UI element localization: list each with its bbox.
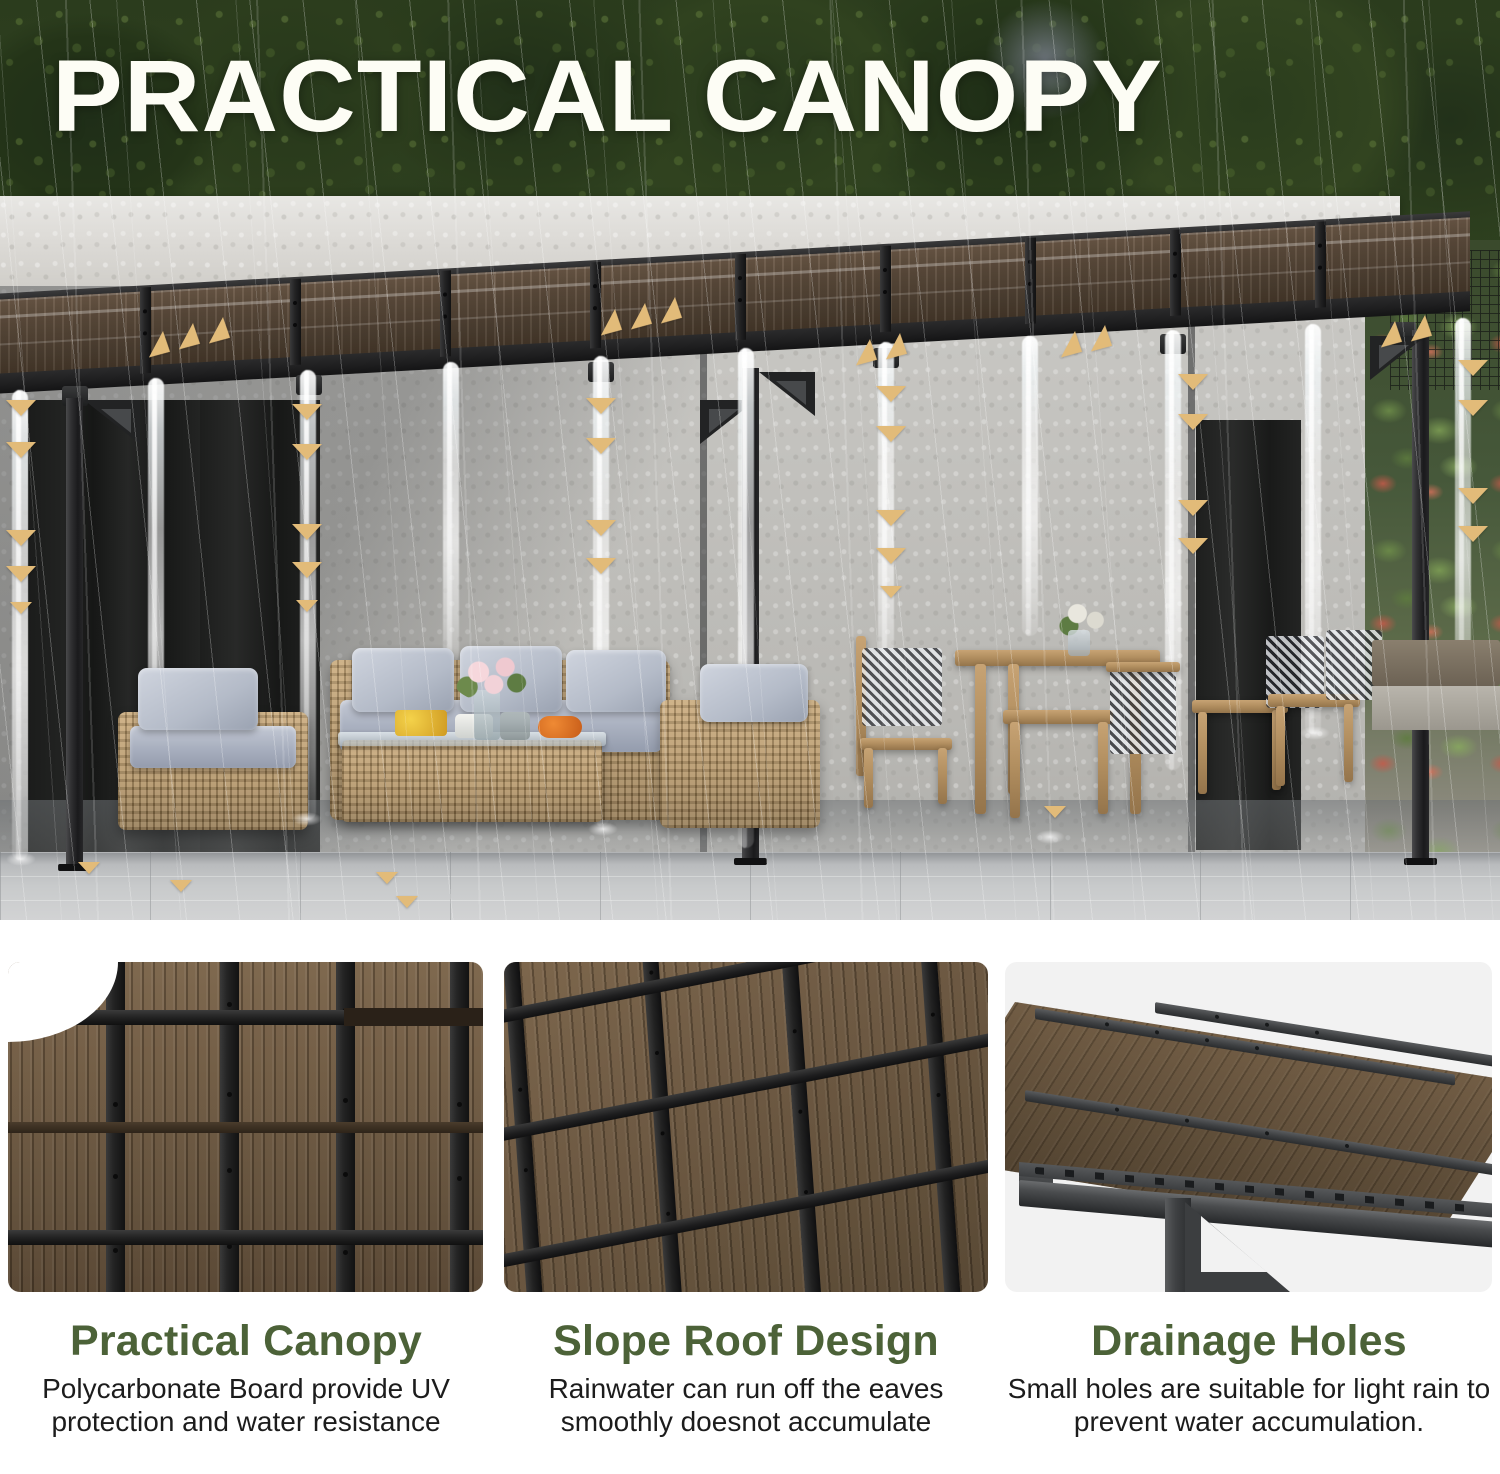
water-splash [6, 852, 36, 866]
page-title: PRACTICAL CANOPY [52, 44, 1163, 148]
planter-base [1372, 686, 1500, 730]
roof-rafter [1315, 221, 1326, 308]
water-splash [1035, 830, 1065, 844]
roof-rafter [140, 287, 151, 374]
flow-arrow-icon [876, 426, 906, 442]
water-splash [588, 822, 618, 836]
armchair-back-pillow [138, 668, 258, 730]
post-base [734, 858, 767, 865]
post-base [1404, 858, 1437, 865]
feature-image-drainage-holes [1005, 962, 1492, 1292]
caption-title: Practical Canopy [0, 1316, 492, 1366]
roof-rafter [590, 262, 601, 349]
fruit-bowl-oranges [538, 716, 582, 738]
feature-image-slope-roof-design [504, 962, 988, 1292]
canopy-post [1412, 330, 1429, 860]
panel-dark-segment [344, 1008, 483, 1026]
flower-bouquet [452, 652, 528, 702]
flow-arrow-icon [78, 862, 100, 874]
product-feature-image: PRACTICAL CANOPY [0, 0, 1500, 1474]
flow-arrow-icon [1044, 806, 1066, 818]
wicker-coffee-table [342, 740, 602, 822]
pitcher [500, 712, 530, 740]
roof-rafter [880, 246, 891, 333]
roof-rafter [440, 270, 451, 357]
flow-arrow-icon [6, 400, 36, 416]
dining-chair-leg [864, 748, 873, 808]
caption-description: Rainwater can run off the eaves smoothly… [496, 1372, 996, 1438]
dining-chair-leg [1276, 706, 1285, 786]
feature-captions: Practical Canopy Polycarbonate Board pro… [0, 1316, 1500, 1474]
caption-drainage-holes: Drainage Holes Small holes are suitable … [998, 1316, 1500, 1438]
flow-arrow-icon [396, 896, 418, 908]
flow-arrow-icon [376, 872, 398, 884]
dining-table-leg [975, 664, 986, 814]
caption-practical-canopy: Practical Canopy Polycarbonate Board pro… [0, 1316, 492, 1438]
post-corner-brace [84, 400, 140, 444]
flow-arrow-icon [292, 444, 322, 460]
armchair-seat-cushion [130, 726, 296, 768]
post-corner-brace [759, 372, 815, 416]
hero-photo: PRACTICAL CANOPY [0, 0, 1500, 920]
canopy-post [66, 398, 83, 866]
flow-arrow-icon [6, 442, 36, 458]
flow-arrow-icon [586, 398, 616, 414]
caption-description: Small holes are suitable for light rain … [998, 1372, 1500, 1438]
sofa-back-pillow [352, 648, 454, 712]
water-splash [292, 812, 322, 826]
caption-title: Drainage Holes [998, 1316, 1500, 1366]
flow-arrow-icon [10, 602, 32, 614]
flow-arrow-icon [876, 510, 906, 526]
caption-description: Polycarbonate Board provide UV protectio… [0, 1372, 492, 1438]
roof-rafter [1025, 238, 1036, 325]
dining-armchair-leg [1098, 722, 1108, 814]
roof-rafter [290, 279, 301, 366]
flow-arrow-icon [292, 404, 322, 420]
flow-arrow-icon [170, 880, 192, 892]
dining-armchair-woven-back [1110, 668, 1176, 754]
flow-arrow-icon [296, 600, 318, 612]
angled-roof-view [504, 962, 988, 1292]
flow-arrow-icon [6, 530, 36, 546]
water-splash [1300, 726, 1330, 740]
flow-arrow-icon [586, 438, 616, 454]
flow-arrow-icon [880, 586, 902, 598]
flow-arrow-icon [586, 558, 616, 574]
table-vase [1068, 630, 1090, 656]
flow-arrow-icon [876, 548, 906, 564]
caption-slope-roof-design: Slope Roof Design Rainwater can run off … [496, 1316, 996, 1438]
flow-arrow-icon [1178, 374, 1208, 390]
water-stream [1022, 336, 1038, 636]
sofa-back-pillow [566, 650, 666, 712]
flow-arrow-icon [292, 524, 322, 540]
flow-arrow-icon [1458, 488, 1488, 504]
outdoor-curtain-right [1196, 420, 1301, 850]
water-stream [443, 362, 459, 662]
triangular-corner-brace [1185, 1202, 1297, 1292]
panel-rail-horizontal [8, 1230, 483, 1245]
planter-bench [1372, 640, 1500, 686]
flow-arrow-icon [1458, 360, 1488, 376]
flow-arrow-icon [1178, 414, 1208, 430]
fruit-plate-lemons [395, 710, 447, 736]
flow-arrow-icon [1458, 400, 1488, 416]
dining-armchair-leg [1010, 722, 1020, 818]
panel-rail-horizontal [8, 1122, 483, 1133]
flow-arrow-icon [1178, 538, 1208, 554]
flow-arrow-icon [6, 566, 36, 582]
dining-chair-leg [1198, 712, 1207, 794]
dining-armchair-seat [1003, 710, 1113, 724]
caption-title: Slope Roof Design [496, 1316, 996, 1366]
armchair-back-pillow [700, 664, 808, 722]
dining-chair-woven-back [862, 648, 942, 726]
dining-chair-leg [1344, 704, 1353, 782]
dining-armchair-top-rail [1106, 662, 1180, 672]
water-stream [12, 390, 28, 860]
flow-arrow-icon [1178, 500, 1208, 516]
flow-arrow-icon [876, 386, 906, 402]
feature-image-practical-canopy [8, 962, 483, 1292]
flow-arrow-icon [586, 520, 616, 536]
dining-chair-leg [938, 748, 947, 804]
flow-arrow-icon [292, 562, 322, 578]
roof-rafter [735, 254, 746, 341]
roof-rafter [1170, 229, 1181, 316]
flow-arrow-icon [1458, 526, 1488, 542]
